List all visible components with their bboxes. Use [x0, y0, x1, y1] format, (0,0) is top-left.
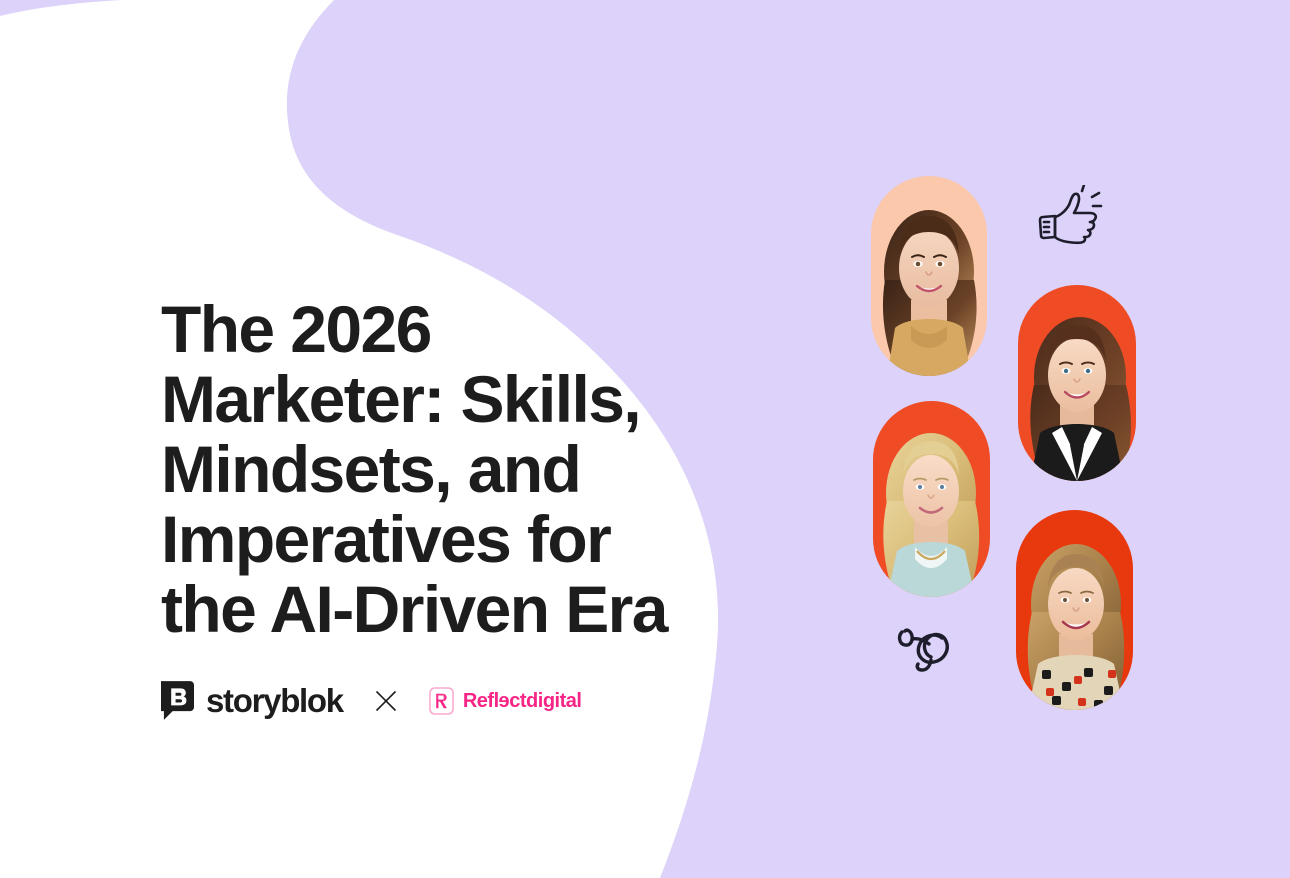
- reflect-word-part-1: Refl: [463, 691, 499, 711]
- reflectdigital-logo[interactable]: Reflectdigital: [429, 687, 582, 715]
- storyblok-logo[interactable]: storyblok: [161, 681, 343, 720]
- reflect-digital-r-icon: [429, 687, 454, 715]
- headline-block: The 2026 Marketer: Skills, Mindsets, and…: [161, 294, 801, 644]
- portrait-3-image: [873, 401, 990, 597]
- speaker-portrait-2: [1018, 285, 1136, 481]
- promo-banner: The 2026 Marketer: Skills, Mindsets, and…: [0, 0, 1290, 878]
- storyblok-b-speech-bubble-icon: [161, 681, 194, 720]
- reflect-flipped-e: e: [499, 691, 510, 711]
- portrait-4-image: [1016, 510, 1133, 710]
- reflect-word-part-2: ctdigital: [509, 691, 581, 711]
- reflectdigital-wordmark: Reflectdigital: [463, 691, 582, 711]
- speaker-portrait-4: [1016, 510, 1133, 710]
- cross-separator-icon: [375, 690, 397, 712]
- speaker-portrait-1: [871, 176, 987, 376]
- portrait-2-image: [1018, 285, 1136, 481]
- thumbs-up-doodle-icon: [1035, 185, 1107, 251]
- portrait-1-image: [871, 176, 987, 376]
- storyblok-wordmark: storyblok: [206, 684, 343, 717]
- logo-lockup: storyblok Reflectdigital: [161, 681, 581, 720]
- page-title: The 2026 Marketer: Skills, Mindsets, and…: [161, 294, 801, 644]
- speaker-portrait-collage: [830, 150, 1170, 730]
- speaker-portrait-3: [873, 401, 990, 597]
- spiral-squiggle-doodle-icon: [896, 622, 958, 676]
